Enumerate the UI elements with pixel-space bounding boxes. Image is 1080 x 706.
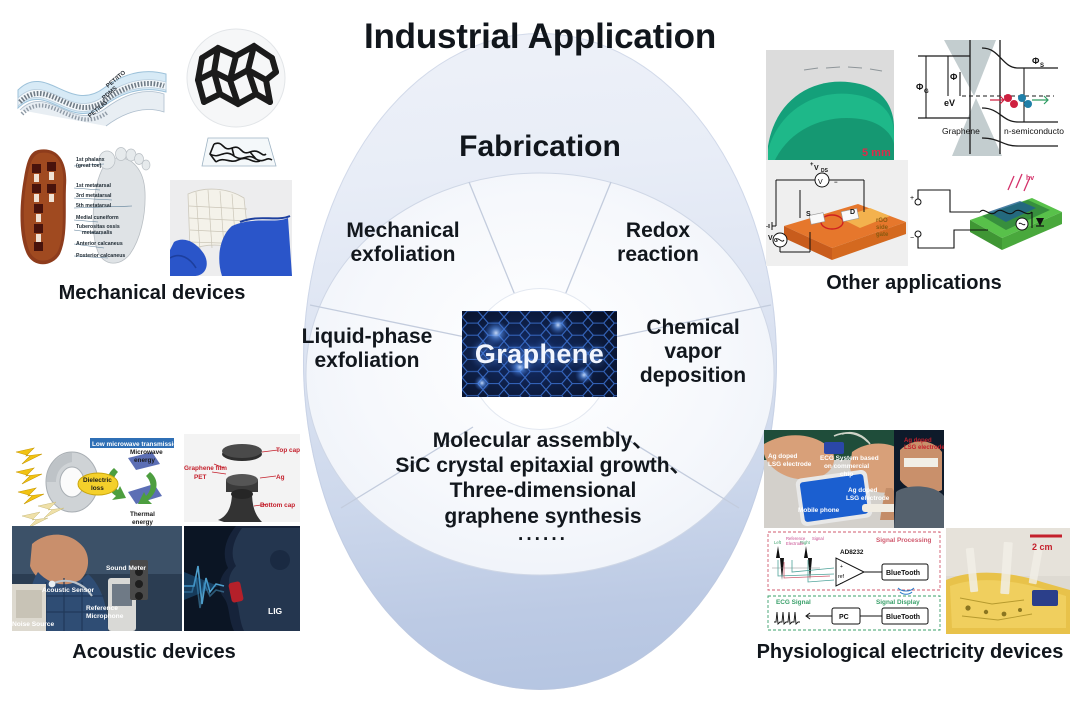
svg-text:5 mm: 5 mm [862,147,891,159]
svg-text:DS: DS [821,168,829,174]
svg-text:G: G [774,238,778,244]
svg-text:side: side [876,225,889,231]
graphene-image: Graphene [462,311,617,397]
svg-text:PET: PET [194,474,207,481]
subimage-pcb-photo: 2 cm [946,528,1070,634]
svg-text:loss: loss [91,485,104,492]
svg-text:D: D [850,209,855,216]
svg-text:Φ: Φ [916,82,924,92]
svg-text:PC: PC [839,614,849,621]
caption-mechanical-devices: Mechanical devices [8,282,296,305]
svg-text:+: + [840,564,843,570]
svg-text:Signal Display: Signal Display [876,599,920,606]
svg-text:Sound Meter: Sound Meter [106,565,146,572]
svg-text:ref: ref [838,574,844,580]
subimage-band-diagram: ΦG ΦS Φ eV Graphene n-semiconductor [904,34,1064,164]
svg-text:on commercial: on commercial [824,463,869,470]
svg-text:AD8232: AD8232 [840,549,864,556]
svg-text:chip: chip [840,471,853,478]
panel-acoustic-devices: Low microwave transmission [6,430,302,635]
svg-text:Left: Left [774,540,782,545]
svg-text:n-semiconductor: n-semiconductor [1004,126,1064,136]
svg-text:Top cap: Top cap [276,447,300,454]
svg-text:S: S [1040,63,1044,69]
svg-text:Φ: Φ [950,72,958,82]
svg-text:LSG electrode: LSG electrode [846,495,890,502]
svg-text:energy: energy [134,457,155,464]
subimage-photodetector-circuit: + − hv [910,168,1064,268]
svg-text:Ag doped: Ag doped [848,487,878,494]
svg-text:eV: eV [944,98,955,108]
subimage-microphone-capsule: Top cap Ag Graphene film PET Bottom cap [184,434,300,522]
svg-text:Noise Source: Noise Source [12,621,54,628]
svg-text:+: + [810,162,814,168]
svg-text:Signal: Signal [812,536,824,541]
svg-text:Posterior calcaneus: Posterior calcaneus [76,253,125,259]
svg-text:Microwave: Microwave [130,449,163,456]
subimage-foot-pressure-map: 1st phalanx(great toe) 1st metatarsal 3r… [12,140,164,272]
svg-text:energy: energy [132,519,153,526]
svg-text:LSG electrode: LSG electrode [904,445,944,451]
subimage-layered-sensor: PET/ITO PDMS PET/LIG [12,40,172,136]
svg-text:2 cm: 2 cm [1032,542,1053,552]
graphene-overview-figure: Industrial Application Fabrication [0,0,1080,706]
svg-text:Ag doped: Ag doped [768,453,798,460]
svg-text:Φ: Φ [1032,56,1040,66]
fabrication-title: Fabrication [303,130,777,164]
svg-text:rGO: rGO [876,218,888,224]
svg-text:V: V [768,235,773,242]
caption-other-applications: Other applications [758,272,1070,295]
svg-text:ECG System based: ECG System based [820,455,879,462]
svg-text:Dielectric: Dielectric [83,477,112,484]
svg-text:Reference: Reference [86,605,118,612]
panel-mechanical-devices: PET/ITO PDMS PET/LIG [8,18,296,276]
svg-text:Ag: Ag [276,474,285,481]
svg-text:−: − [834,180,838,186]
caption-acoustic-devices: Acoustic devices [6,641,302,664]
graphene-label: Graphene [462,311,617,397]
subimage-microwave-absorption: Low microwave transmission [12,434,176,538]
subimage-acoustic-sensor-photo: Sound Meter Acoustic Sensor ReferenceMic… [12,526,182,631]
svg-text:Signal Processing: Signal Processing [876,537,931,544]
svg-text:BlueTooth: BlueTooth [886,570,920,577]
subimage-graphene-foam [184,28,288,128]
svg-text:BlueTooth: BlueTooth [886,614,920,621]
svg-text:hv: hv [1026,175,1034,182]
page-title: Industrial Application [303,17,777,57]
svg-text:Bottom cap: Bottom cap [260,502,295,509]
svg-text:Graphene film: Graphene film [184,465,227,472]
svg-text:LSG electrode: LSG electrode [768,461,812,468]
svg-text:V: V [818,179,823,186]
svg-text:Acoustic Sensor: Acoustic Sensor [42,587,94,594]
svg-text:metatarsalis: metatarsalis [82,230,112,236]
subimage-green-film: 5 mm [766,50,894,166]
svg-text:V: V [814,165,819,172]
svg-text:LIG: LIG [268,606,283,616]
svg-text:3rd metatarsal: 3rd metatarsal [76,193,112,199]
svg-text:ECG Signal: ECG Signal [776,599,811,606]
svg-text:Anterior calcaneus: Anterior calcaneus [76,241,123,247]
svg-text:+: + [910,195,914,202]
panel-physiological-devices: Ag dopedLSG electrode Ag dopedLSG electr… [760,428,1070,635]
panel-other-applications: 5 mm [758,22,1070,272]
svg-text:S: S [806,211,811,218]
svg-text:Microphone: Microphone [86,613,124,620]
svg-text:5th metatarsal: 5th metatarsal [76,203,112,209]
subimage-ecg-hands-photo: Ag dopedLSG electrode Ag dopedLSG electr… [764,430,944,528]
svg-text:Mobile phone: Mobile phone [798,507,840,514]
svg-text:gate: gate [876,232,889,238]
svg-text:Thermal: Thermal [130,511,155,518]
svg-text:Electrode: Electrode [786,541,804,546]
svg-text:Low microwave transmission: Low microwave transmission [92,441,176,448]
subimage-fet-device: V VDS +− VG SD rGOsidegate [766,160,908,266]
svg-text:Medial cuneiform: Medial cuneiform [76,215,119,221]
subimage-flexible-film-hand [170,180,292,276]
svg-text:−: − [840,581,843,587]
caption-physiological-devices: Physiological electricity devices [740,641,1080,664]
svg-text:1st metatarsal: 1st metatarsal [76,183,111,189]
subimage-foam-schematic [194,130,282,176]
subimage-throat-lig: LIG [184,526,300,631]
subimage-ecg-block-diagram: Signal Processing Signal Display ECG Sig… [764,528,944,634]
svg-text:−: − [910,235,914,242]
svg-text:(great toe): (great toe) [76,163,102,169]
svg-text:Ag doped: Ag doped [904,438,932,444]
svg-text:G: G [924,89,929,95]
svg-text:Graphene: Graphene [942,126,980,136]
